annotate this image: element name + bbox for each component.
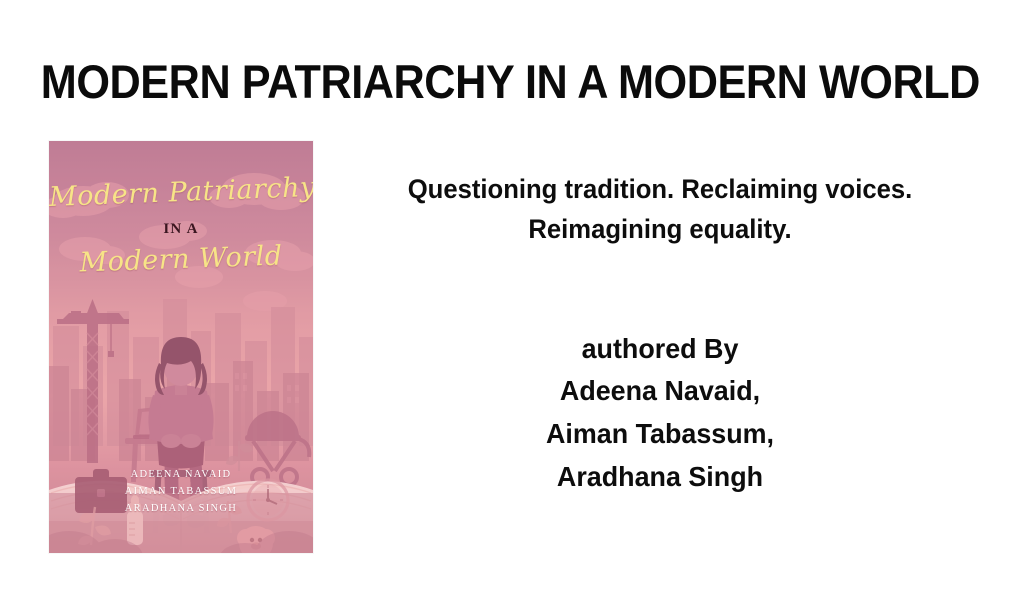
tagline-line-2: Reimagining equality. xyxy=(347,210,974,250)
author-name-2: Aiman Tabassum, xyxy=(343,413,977,456)
cover-author-2: AIMAN TABASSUM xyxy=(49,483,313,500)
cover-author-1: ADEENA NAVAID xyxy=(49,466,313,483)
tagline: Questioning tradition. Reclaiming voices… xyxy=(347,170,974,250)
author-name-3: Aradhana Singh xyxy=(343,456,977,499)
poster-page: MODERN PATRIARCHY IN A MODERN WORLD xyxy=(0,0,1020,600)
text-column: Questioning tradition. Reclaiming voices… xyxy=(330,170,990,550)
authors-block: authored By Adeena Navaid, Aiman Tabassu… xyxy=(343,328,977,498)
authored-by-label: authored By xyxy=(343,328,977,371)
page-title: MODERN PATRIARCHY IN A MODERN WORLD xyxy=(41,57,979,106)
author-name-1: Adeena Navaid, xyxy=(343,370,977,413)
cover-author-3: ARADHANA SINGH xyxy=(49,500,313,517)
tagline-line-1: Questioning tradition. Reclaiming voices… xyxy=(347,170,974,210)
cover-author-list: ADEENA NAVAID AIMAN TABASSUM ARADHANA SI… xyxy=(49,466,313,517)
book-cover-image: Modern Patriarchy IN A Modern World ADEE… xyxy=(49,141,313,553)
